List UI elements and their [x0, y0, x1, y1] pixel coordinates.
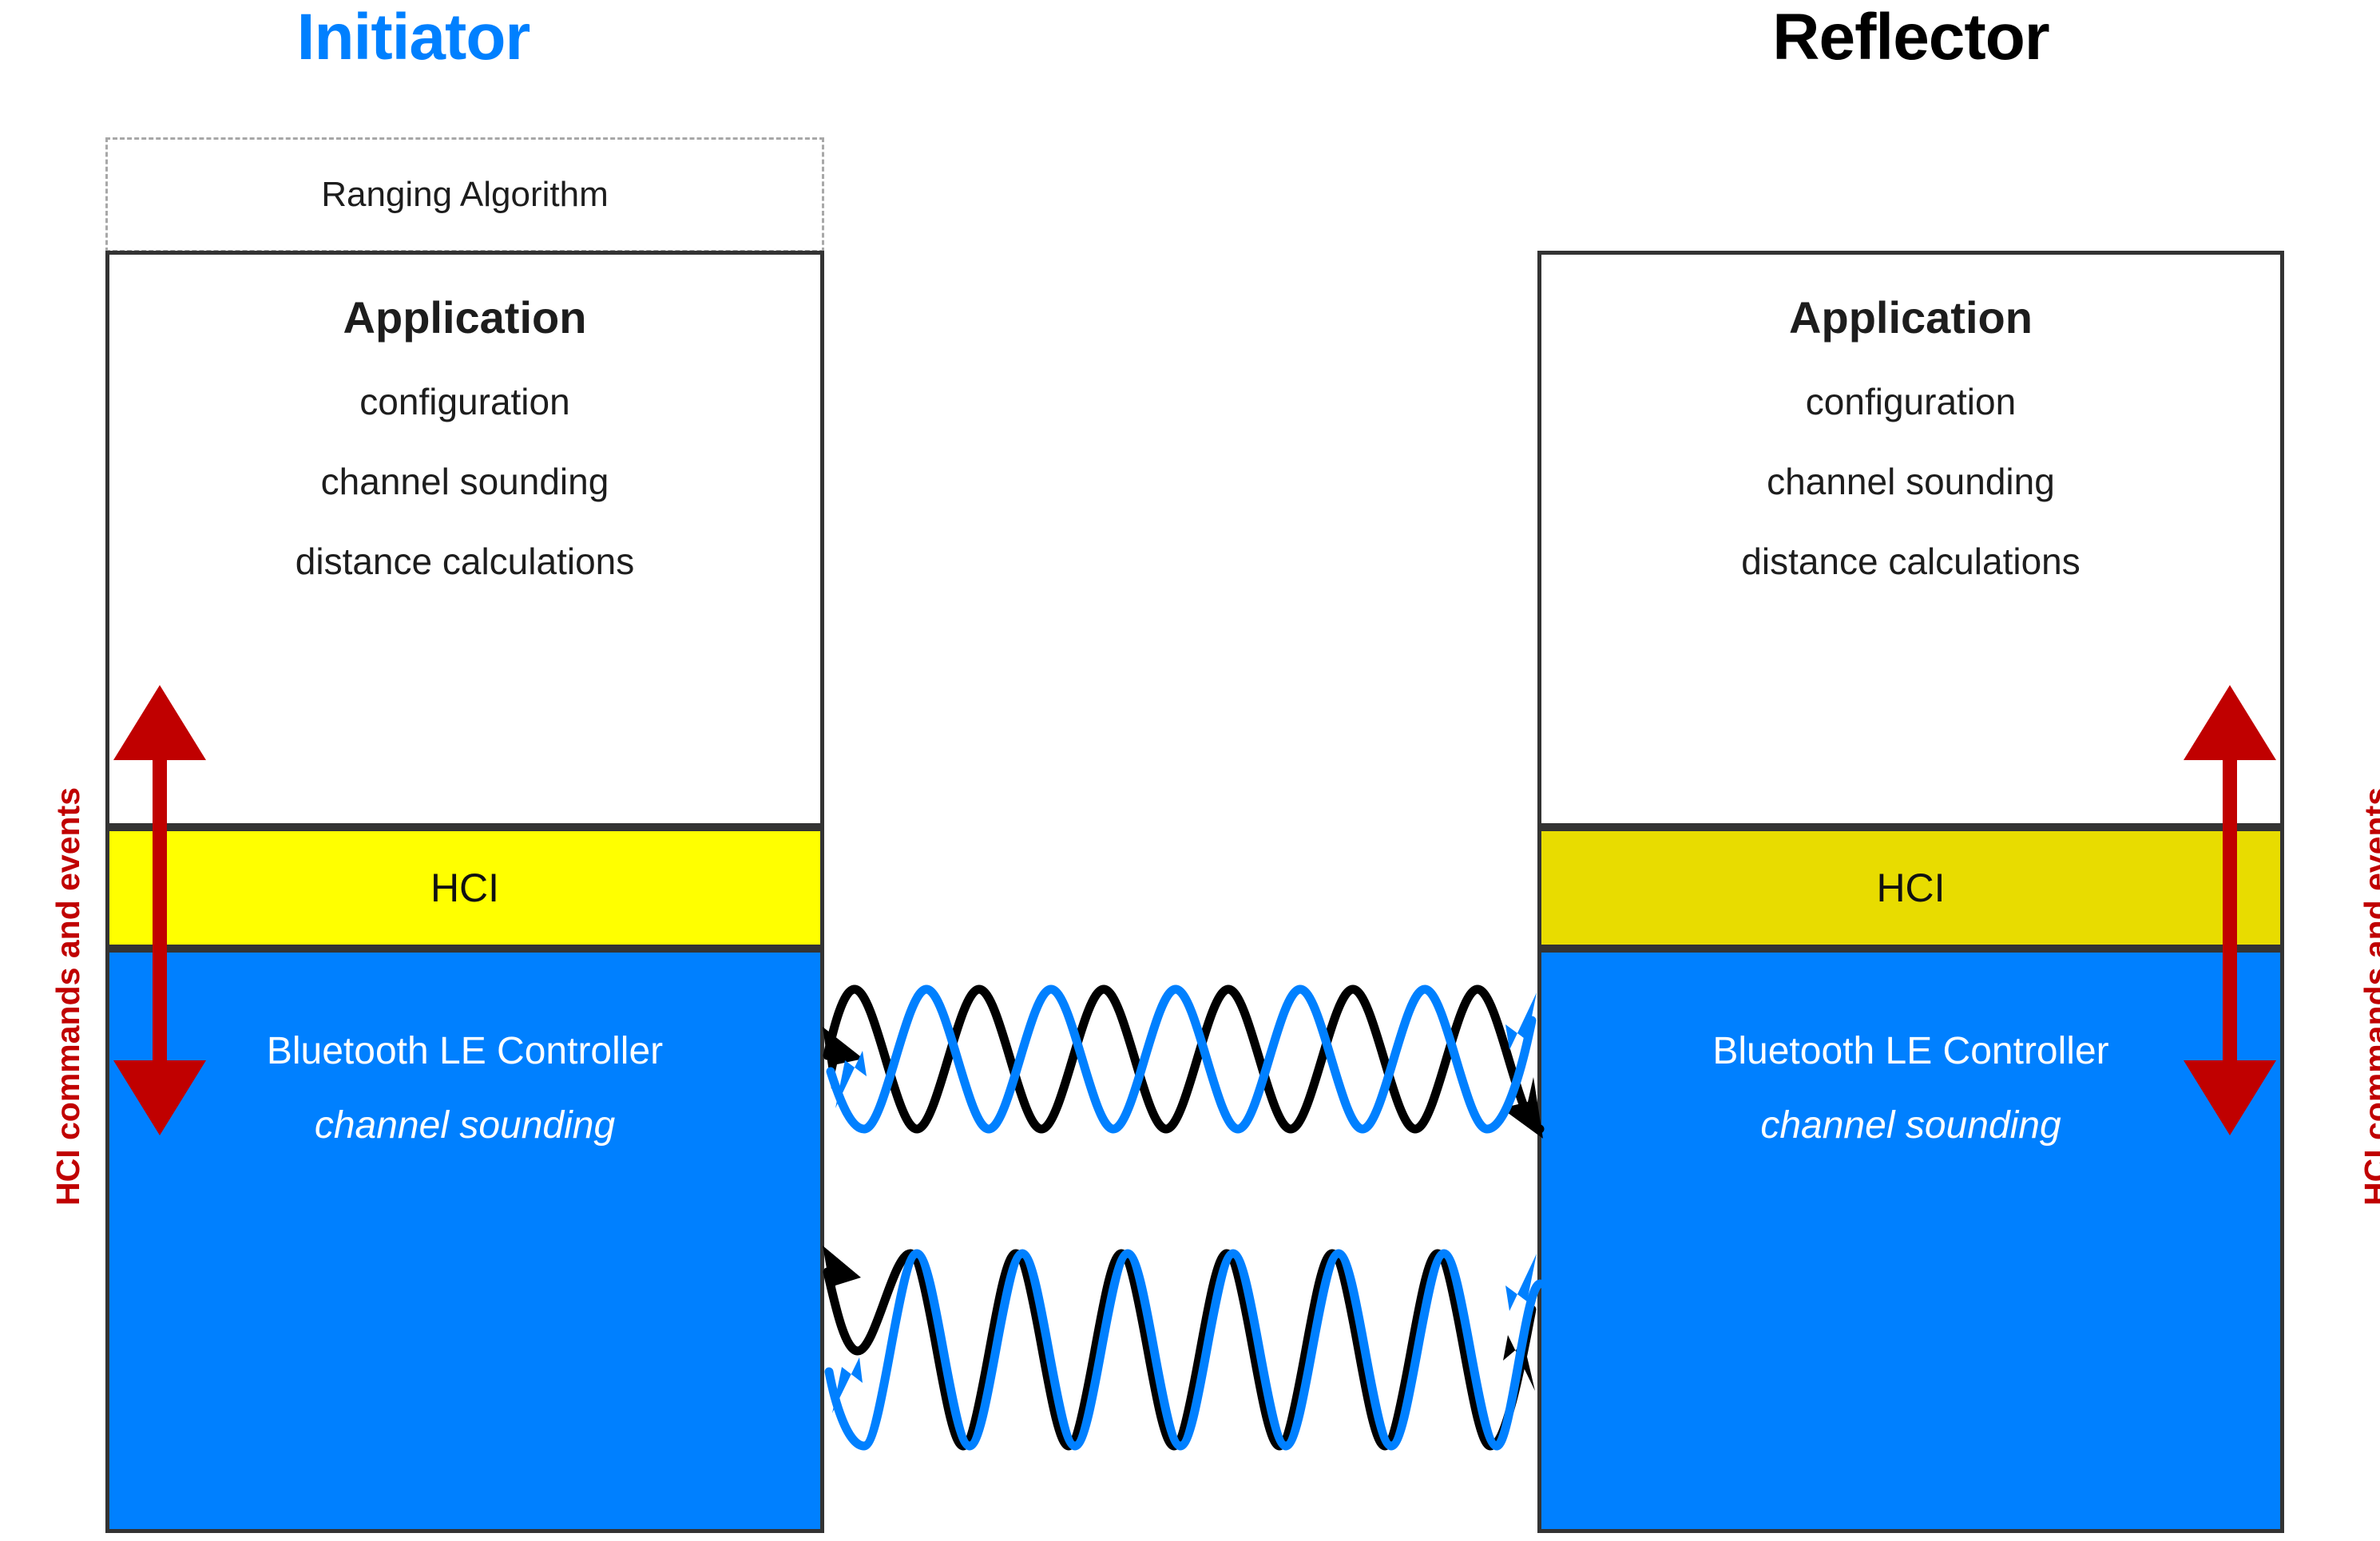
diagram-canvas: Initiator Reflector Ranging Algorithm Ap…: [0, 0, 2380, 1541]
reflector-hci-double-arrow: [2184, 685, 2276, 1135]
vector-overlay: [0, 0, 2380, 1541]
top-wave-black: [823, 989, 1543, 1139]
initiator-hci-double-arrow: [113, 685, 206, 1135]
